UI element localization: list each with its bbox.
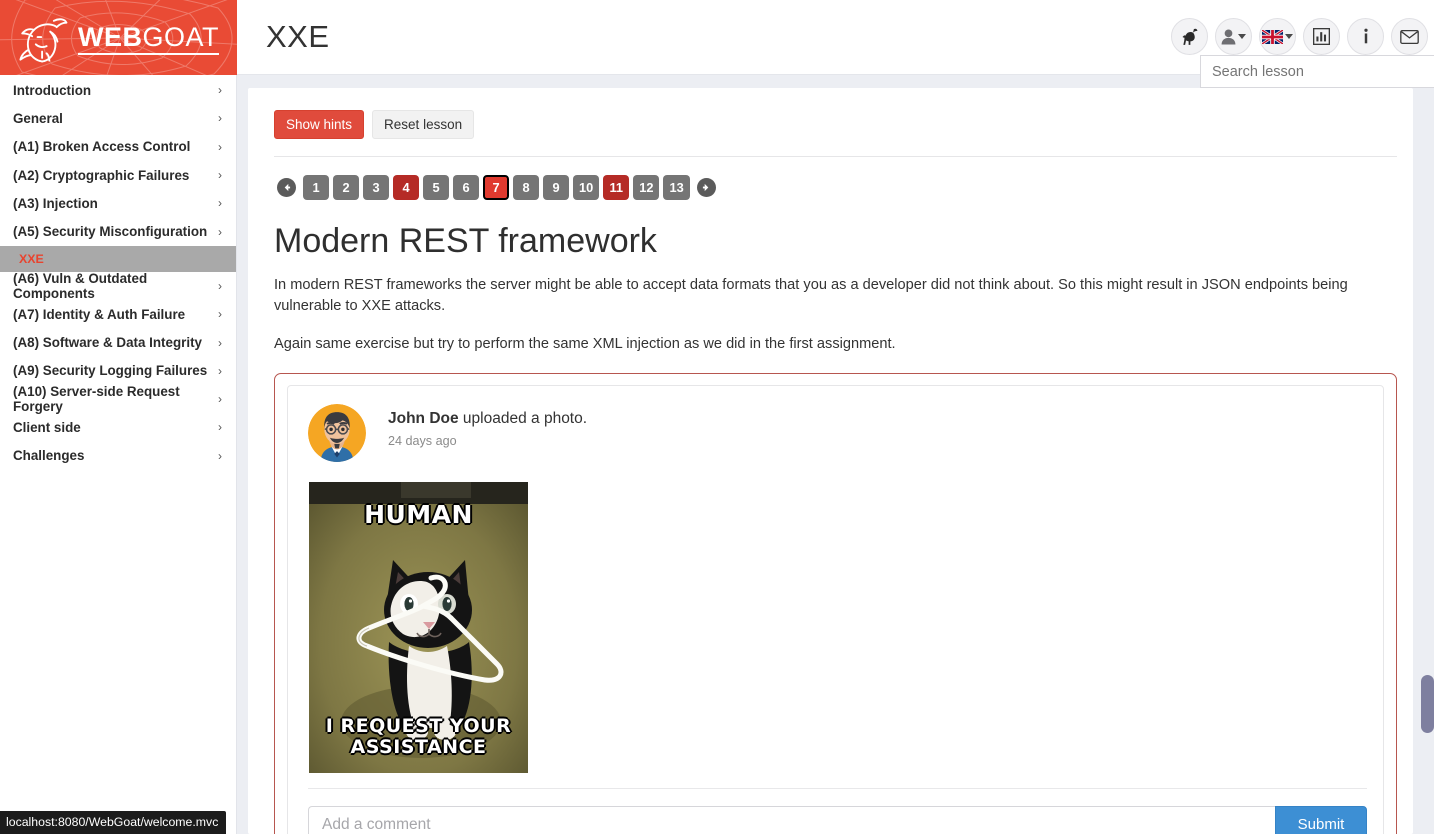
sidebar-item-identity-auth-failure[interactable]: (A7) Identity & Auth Failure › xyxy=(0,300,236,328)
cat-hanger-meme: HUMAN I REQUEST YOUR ASSISTANCE xyxy=(309,482,528,773)
content-scroll-area: Show hints Reset lesson 1 2 3 4 5 6 xyxy=(237,75,1434,834)
page-title: XXE xyxy=(266,19,330,55)
chevron-right-icon: › xyxy=(218,392,222,406)
pagination-prev-button[interactable] xyxy=(277,178,296,197)
chevron-right-icon: › xyxy=(218,449,222,463)
sidebar-item-security-misconfiguration[interactable]: (A5) Security Misconfiguration › xyxy=(0,217,236,245)
assignment-container: John Doe uploaded a photo. 24 days ago xyxy=(274,373,1397,834)
sidebar-item-label: (A10) Server-side Request Forgery xyxy=(13,384,218,414)
sidebar-item-label: (A9) Security Logging Failures xyxy=(13,363,207,378)
chevron-right-icon: › xyxy=(218,336,222,350)
comment-row: Submit xyxy=(308,806,1367,834)
status-bar-url: localhost:8080/WebGoat/welcome.mvc xyxy=(0,811,226,834)
pagination-page-10[interactable]: 10 xyxy=(573,175,599,200)
chevron-down-icon xyxy=(1238,34,1246,39)
pagination-page-1[interactable]: 1 xyxy=(303,175,329,200)
pagination-page-8[interactable]: 8 xyxy=(513,175,539,200)
sidebar-item-label: Client side xyxy=(13,420,81,435)
sidebar-item-xxe[interactable]: XXE xyxy=(0,246,236,272)
sidebar-item-broken-access-control[interactable]: (A1) Broken Access Control › xyxy=(0,133,236,161)
reset-lesson-button[interactable]: Reset lesson xyxy=(372,110,474,139)
lesson-card: Show hints Reset lesson 1 2 3 4 5 6 xyxy=(248,88,1413,834)
about-button[interactable] xyxy=(1347,18,1384,55)
sidebar-subitem-label: XXE xyxy=(19,252,44,266)
scoreboard-button[interactable] xyxy=(1303,18,1340,55)
sidebar-item-vuln-outdated-components[interactable]: (A6) Vuln & Outdated Components › xyxy=(0,272,236,300)
user-icon xyxy=(1221,29,1236,45)
sidebar-item-label: (A6) Vuln & Outdated Components xyxy=(13,271,218,301)
lesson-pagination: 1 2 3 4 5 6 7 8 9 10 11 12 13 xyxy=(274,175,1397,200)
header-icon-bar xyxy=(1171,18,1428,55)
brand-logo-goat: GOAT xyxy=(143,22,220,55)
sidebar-item-label: (A1) Broken Access Control xyxy=(13,139,190,154)
sidebar-item-server-side-request-forgery[interactable]: (A10) Server-side Request Forgery › xyxy=(0,385,236,413)
chart-bar-icon xyxy=(1313,28,1330,45)
sidebar-item-injection[interactable]: (A3) Injection › xyxy=(0,189,236,217)
language-menu-button[interactable] xyxy=(1259,18,1296,55)
brand-header[interactable]: WEBGOAT xyxy=(0,0,237,75)
user-menu-button[interactable] xyxy=(1215,18,1252,55)
chevron-right-icon: › xyxy=(218,307,222,321)
flag-uk-icon xyxy=(1262,30,1283,44)
search-input[interactable] xyxy=(1200,55,1434,88)
meme-top-text: HUMAN xyxy=(309,500,528,529)
top-header: XXE xyxy=(237,0,1434,75)
sidebar-item-label: (A8) Software & Data Integrity xyxy=(13,335,202,350)
pagination-page-13[interactable]: 13 xyxy=(663,175,689,200)
post-author-line: John Doe uploaded a photo. xyxy=(388,410,587,428)
sidebar-item-introduction[interactable]: Introduction › xyxy=(0,76,236,104)
chevron-right-icon: › xyxy=(218,140,222,154)
sidebar-item-label: Introduction xyxy=(13,83,91,98)
post-author-name: John Doe xyxy=(388,410,459,427)
sidebar-item-cryptographic-failures[interactable]: (A2) Cryptographic Failures › xyxy=(0,161,236,189)
app-root: WEBGOAT Introduction › General › (A1) Br… xyxy=(0,0,1434,834)
goat-icon xyxy=(1179,28,1200,46)
sidebar-item-label: (A3) Injection xyxy=(13,196,98,211)
pagination-next-button[interactable] xyxy=(697,178,716,197)
chevron-right-icon: › xyxy=(218,111,222,125)
info-icon xyxy=(1363,28,1369,45)
envelope-icon xyxy=(1400,30,1419,44)
pagination-page-5[interactable]: 5 xyxy=(423,175,449,200)
content-scrollbar-track[interactable] xyxy=(1420,75,1434,834)
arrow-left-icon xyxy=(282,183,291,192)
divider xyxy=(274,156,1397,157)
goat-head-icon xyxy=(14,10,72,66)
post-meta: John Doe uploaded a photo. 24 days ago xyxy=(388,404,587,448)
pagination-page-7[interactable]: 7 xyxy=(483,175,509,200)
pagination-page-2[interactable]: 2 xyxy=(333,175,359,200)
submit-comment-button[interactable]: Submit xyxy=(1275,806,1367,834)
chevron-right-icon: › xyxy=(218,196,222,210)
sidebar-item-client-side[interactable]: Client side › xyxy=(0,413,236,441)
search-lesson-wrapper xyxy=(1200,55,1434,88)
meme-bottom-text: I REQUEST YOUR ASSISTANCE xyxy=(309,716,528,759)
brand-logo-text: WEBGOAT xyxy=(78,22,219,53)
post-timestamp: 24 days ago xyxy=(388,434,587,448)
post-card: John Doe uploaded a photo. 24 days ago xyxy=(287,385,1384,834)
chevron-right-icon: › xyxy=(218,279,222,293)
avatar-image xyxy=(308,404,366,462)
lesson-paragraph-1: In modern REST frameworks the server mig… xyxy=(274,275,1397,316)
john-doe-avatar xyxy=(308,404,366,462)
sidebar-item-label: (A7) Identity & Auth Failure xyxy=(13,307,185,322)
chevron-right-icon: › xyxy=(218,420,222,434)
goat-icon-button[interactable] xyxy=(1171,18,1208,55)
pagination-page-12[interactable]: 12 xyxy=(633,175,659,200)
post-header: John Doe uploaded a photo. 24 days ago xyxy=(308,404,1367,462)
main-region: XXE xyxy=(237,0,1434,834)
show-hints-button[interactable]: Show hints xyxy=(274,110,364,139)
brand-logo-web: WEB xyxy=(78,22,143,55)
sidebar-item-label: (A5) Security Misconfiguration xyxy=(13,224,207,239)
chevron-down-icon xyxy=(1285,34,1293,39)
sidebar-item-software-data-integrity[interactable]: (A8) Software & Data Integrity › xyxy=(0,328,236,356)
sidebar-item-label: (A2) Cryptographic Failures xyxy=(13,168,189,183)
pagination-page-3[interactable]: 3 xyxy=(363,175,389,200)
contact-button[interactable] xyxy=(1391,18,1428,55)
lesson-button-row: Show hints Reset lesson xyxy=(274,110,1397,139)
chevron-right-icon: › xyxy=(218,168,222,182)
chevron-right-icon: › xyxy=(218,225,222,239)
sidebar-item-label: General xyxy=(13,111,63,126)
lesson-title: Modern REST framework xyxy=(274,222,1397,261)
content-scrollbar-thumb[interactable] xyxy=(1421,675,1434,733)
sidebar-item-general[interactable]: General › xyxy=(0,104,236,132)
arrow-right-icon xyxy=(702,183,711,192)
post-action-text: uploaded a photo. xyxy=(459,410,587,427)
sidebar-item-label: Challenges xyxy=(13,448,84,463)
pagination-page-11[interactable]: 11 xyxy=(603,175,629,200)
sidebar-item-security-logging-failures[interactable]: (A9) Security Logging Failures › xyxy=(0,357,236,385)
sidebar: WEBGOAT Introduction › General › (A1) Br… xyxy=(0,0,237,834)
sidebar-item-challenges[interactable]: Challenges › xyxy=(0,442,236,470)
pagination-page-6[interactable]: 6 xyxy=(453,175,479,200)
comment-divider xyxy=(308,788,1367,789)
pagination-page-4[interactable]: 4 xyxy=(393,175,419,200)
chevron-right-icon: › xyxy=(218,364,222,378)
pagination-page-9[interactable]: 9 xyxy=(543,175,569,200)
sidebar-nav: Introduction › General › (A1) Broken Acc… xyxy=(0,75,236,470)
lesson-paragraph-2: Again same exercise but try to perform t… xyxy=(274,334,1397,355)
comment-input[interactable] xyxy=(308,806,1275,834)
chevron-right-icon: › xyxy=(218,83,222,97)
